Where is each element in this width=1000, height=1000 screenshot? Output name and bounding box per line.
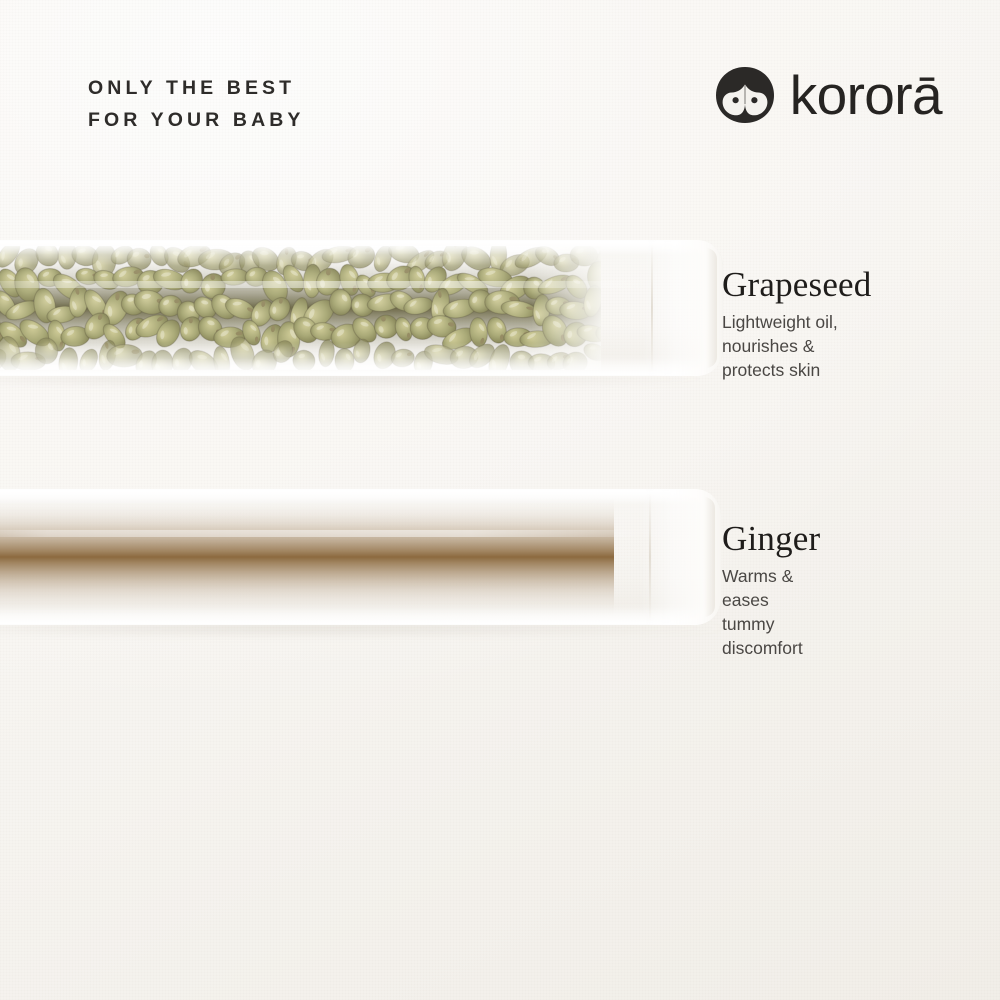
ingredient-description: Lightweight oil, nourishes & protects sk… <box>722 310 872 382</box>
owl-face-icon <box>714 66 776 124</box>
brand-lockup: kororā <box>714 66 942 124</box>
ingredient-label: GingerWarms & eases tummy discomfort <box>722 518 820 660</box>
test-tube <box>0 489 721 625</box>
tagline-line-2: FOR YOUR BABY <box>88 109 305 131</box>
ingredient-name: Ginger <box>722 518 820 559</box>
tagline-line-1: ONLY THE BEST <box>88 77 295 99</box>
tagline: ONLY THE BEST FOR YOUR BABY <box>88 72 305 136</box>
ingredient-description: Warms & eases tummy discomfort <box>722 564 820 660</box>
test-tube <box>0 240 723 376</box>
grape-seeds-in-test-tube <box>0 246 601 370</box>
poster-canvas: ONLY THE BEST FOR YOUR BABY kororā Grape… <box>0 0 1000 1000</box>
dried-ginger-slices-in-test-tube <box>0 495 614 619</box>
ingredient-name: Grapeseed <box>722 264 872 305</box>
ingredient-label: GrapeseedLightweight oil, nourishes & pr… <box>722 264 872 382</box>
brand-wordmark: kororā <box>790 66 942 124</box>
